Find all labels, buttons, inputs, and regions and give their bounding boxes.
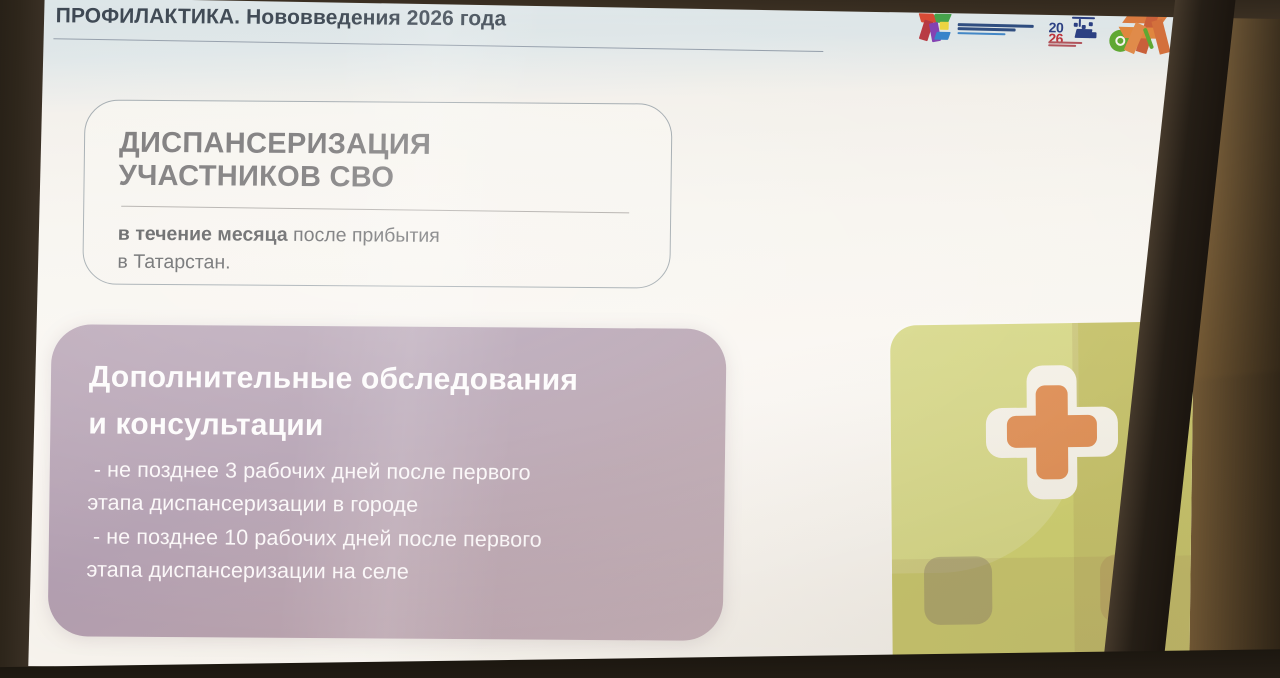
presentation-slide: ПРОФИЛАКТИКА. Нововведения 2026 года 20 … bbox=[9, 0, 1198, 674]
card-dispensary-title-line-1: ДИСПАНСЕРИЗАЦИЯ bbox=[119, 127, 641, 164]
card-dispensary-body-line-2: в Татарстан. bbox=[117, 248, 639, 280]
star-icon bbox=[1119, 11, 1172, 54]
card-dispensary-body-emphasis: в течение месяца bbox=[118, 223, 288, 246]
photo-of-projected-slide: ПРОФИЛАКТИКА. Нововведения 2026 года 20 … bbox=[0, 0, 1280, 678]
card-additional-title-line-2: и консультации bbox=[88, 401, 692, 452]
first-aid-kit-clasp-left bbox=[924, 556, 993, 625]
card-dispensary-body: в течение месяца после прибытия в Татарс… bbox=[117, 220, 640, 280]
card-dispensary-divider bbox=[121, 206, 629, 214]
year-2026-figures-icon bbox=[1069, 14, 1097, 41]
card-additional-bullet-list: - не позднее 3 рабочих дней после первог… bbox=[86, 453, 691, 590]
list-item: - не позднее 10 рабочих дней после перво… bbox=[87, 520, 690, 558]
card-additional-title-line-1: Дополнительные обследования bbox=[89, 354, 693, 405]
year-2026-logo: 20 26 bbox=[1047, 11, 1098, 50]
year-2026-emblem-icon: 20 26 bbox=[1047, 11, 1098, 50]
card-dispensary-body-rest: после прибытия bbox=[288, 224, 440, 247]
year-2026-caption-lines bbox=[1048, 41, 1082, 47]
list-item: этапа диспансеризации в городе bbox=[87, 487, 690, 525]
medical-cross-inner-icon bbox=[1007, 385, 1098, 480]
card-additional-title: Дополнительные обследования и консультац… bbox=[88, 354, 692, 451]
ministry-caption-lines bbox=[957, 23, 1033, 36]
card-dispensary-title: ДИСПАНСЕРИЗАЦИЯ УЧАСТНИКОВ СВО bbox=[118, 127, 641, 197]
ministry-emblem-icon bbox=[918, 11, 953, 44]
list-item: - не позднее 3 рабочих дней после первог… bbox=[88, 453, 691, 491]
star-gear-wheat-icon: 2026 bbox=[1111, 11, 1176, 54]
card-additional-examinations: Дополнительные обследования и консультац… bbox=[48, 324, 727, 641]
card-dispensary: ДИСПАНСЕРИЗАЦИЯ УЧАСТНИКОВ СВО в течение… bbox=[82, 99, 672, 288]
card-dispensary-title-line-2: УЧАСТНИКОВ СВО bbox=[118, 160, 640, 197]
list-item: этапа диспансеризации на селе bbox=[86, 553, 689, 591]
header-divider bbox=[53, 38, 823, 52]
year-of-labour-2026-logo: 2026 bbox=[1111, 11, 1176, 54]
ministry-of-health-tatarstan-logo bbox=[918, 11, 1034, 46]
